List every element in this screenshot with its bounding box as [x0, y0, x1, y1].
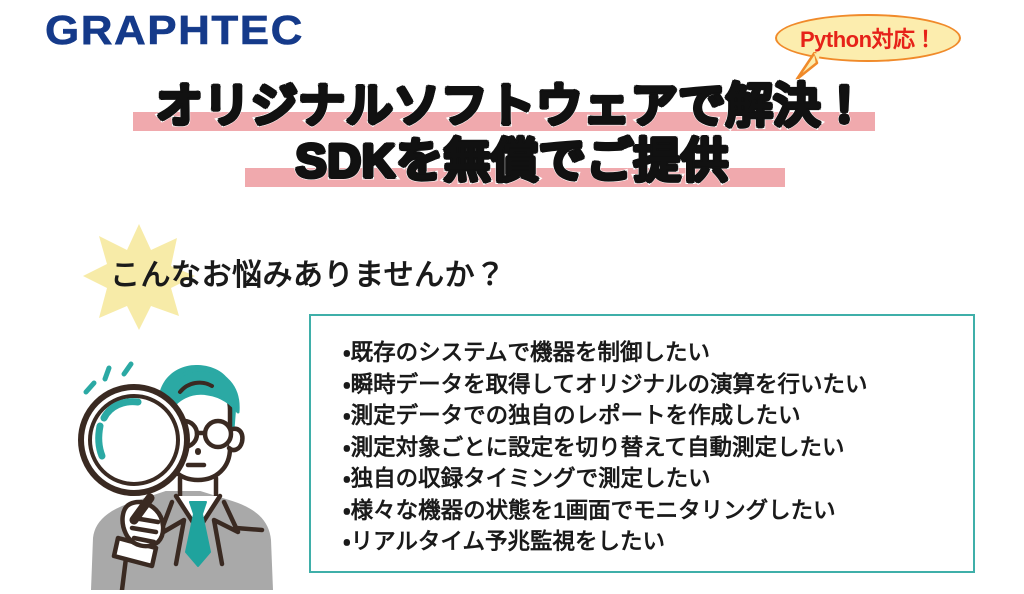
list-item: ・独自の収録タイミングで測定したい [343, 463, 973, 495]
pain-points-list: ・既存のシステムで機器を制御したい ・瞬時データを取得してオリジナルの演算を行い… [311, 316, 973, 558]
list-item: ・リアルタイム予兆監視をしたい [343, 526, 973, 558]
python-support-label: Python対応！ [775, 14, 961, 62]
list-item: ・様々な機器の状態を1画面でモニタリングしたい [343, 495, 973, 527]
list-item: ・瞬時データを取得してオリジナルの演算を行いたい [343, 369, 973, 401]
headline-text-1: オリジナルソフトウェアで解決！ [156, 78, 869, 133]
businessman-with-magnifier-illustration [72, 352, 298, 590]
graphtec-logo: GRAPHTEC [45, 8, 304, 54]
headline: オリジナルソフトウェアで解決！ SDKを無償でご提供 [0, 78, 1024, 188]
question-heading: こんなお悩みありませんか？ [110, 250, 506, 294]
list-item: ・測定データでの独自のレポートを作成したい [343, 400, 973, 432]
python-support-badge: Python対応！ [775, 14, 965, 76]
slide-canvas: GRAPHTEC Python対応！ オリジナルソフトウェアで解決！ SDKを無… [0, 0, 1024, 594]
headline-line-2: SDKを無償でご提供 [0, 133, 1024, 188]
list-item: ・測定対象ごとに設定を切り替えて自動測定したい [343, 432, 973, 464]
pain-points-box: ・既存のシステムで機器を制御したい ・瞬時データを取得してオリジナルの演算を行い… [309, 314, 975, 573]
headline-text-2: SDKを無償でご提供 [295, 133, 728, 188]
list-item: ・既存のシステムで機器を制御したい [343, 337, 973, 369]
headline-line-1: オリジナルソフトウェアで解決！ [0, 78, 1024, 133]
